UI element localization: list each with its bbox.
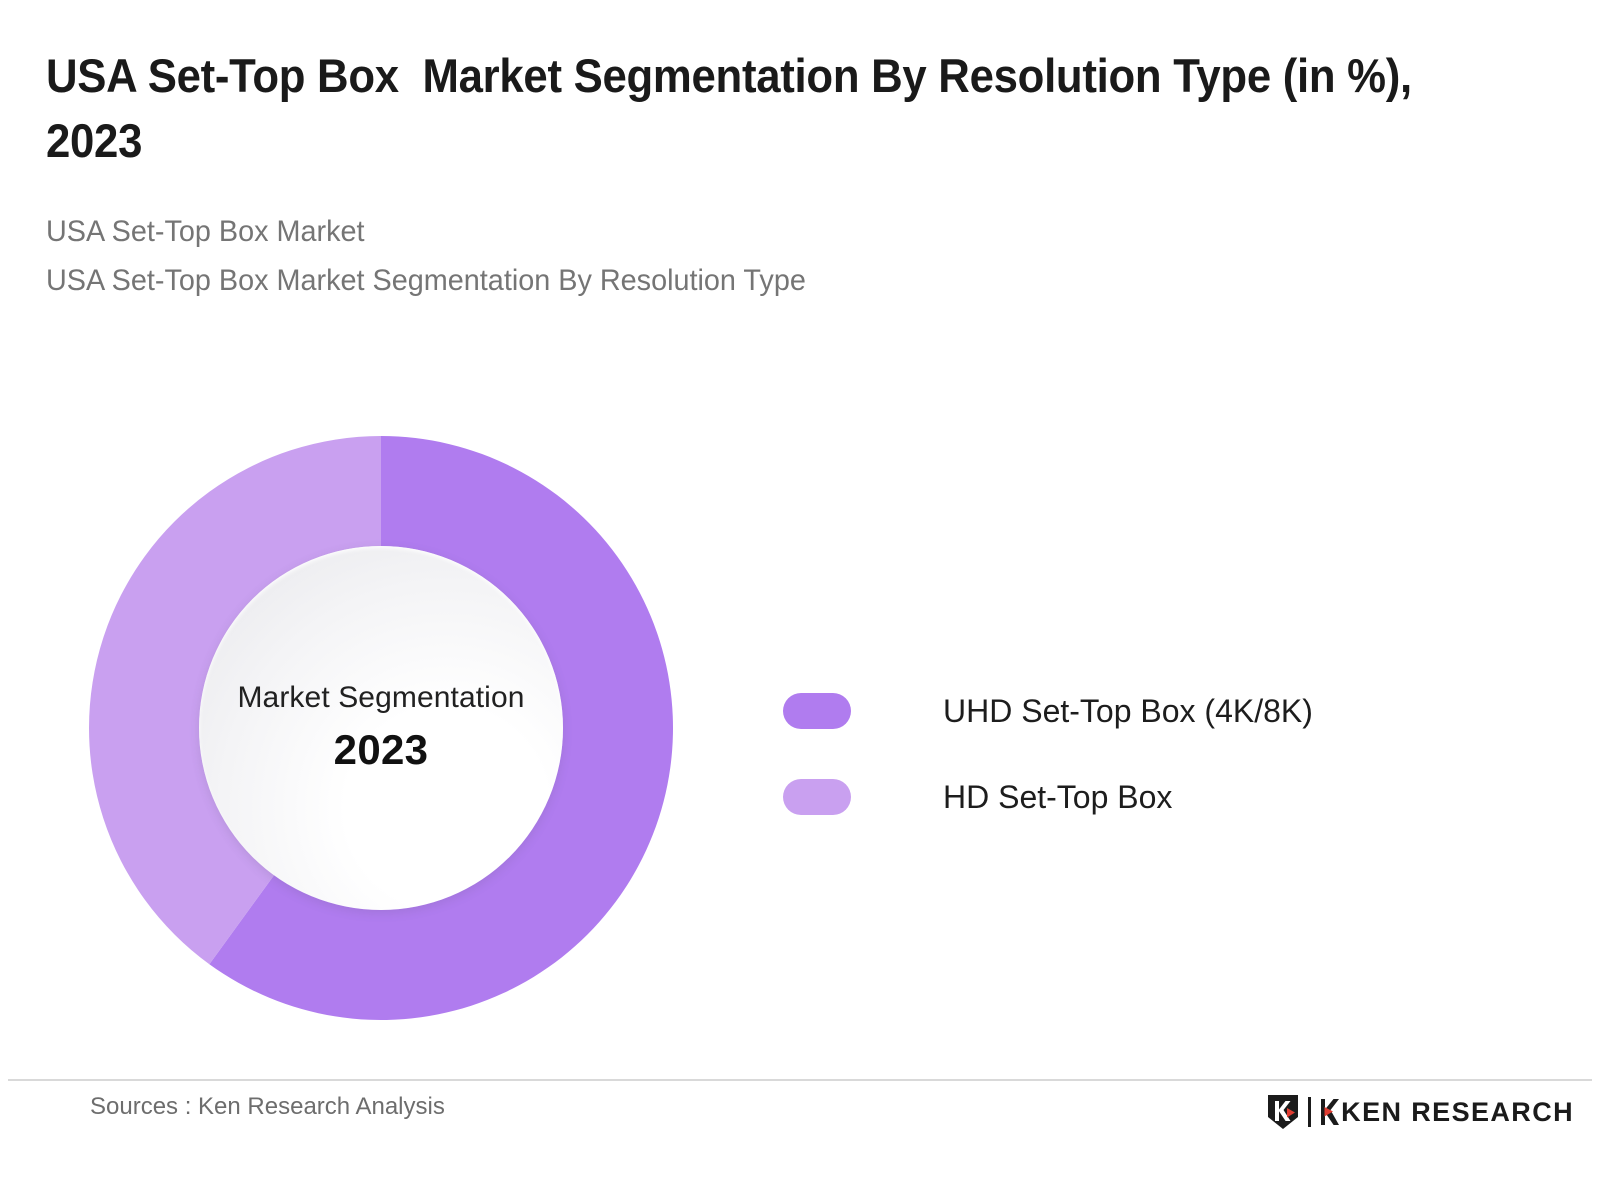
source-note: Sources : Ken Research Analysis [90, 1093, 445, 1121]
ken-research-logo[interactable]: KEN RESEARCH [1266, 1093, 1574, 1131]
page-title: USA Set-Top Box Market Segmentation By R… [46, 44, 1441, 174]
subtitle-block: USA Set-Top Box Market USA Set-Top Box M… [46, 208, 1546, 306]
ken-research-shield-k-icon [1266, 1093, 1300, 1131]
footer-divider [8, 1079, 1592, 1081]
logo-wordmark: KEN RESEARCH [1341, 1099, 1574, 1126]
legend-label-hd: HD Set-Top Box [943, 778, 1172, 816]
donut-center-disc: Market Segmentation 2023 [199, 546, 563, 910]
legend-label-uhd: UHD Set-Top Box (4K/8K) [943, 692, 1313, 730]
chart-page: USA Set-Top Box Market Segmentation By R… [0, 0, 1600, 1200]
chart-legend: UHD Set-Top Box (4K/8K) HD Set-Top Box [783, 668, 1423, 840]
donut-chart: Market Segmentation 2023 [89, 436, 673, 1020]
subtitle-line-market: USA Set-Top Box Market [46, 208, 1486, 257]
donut-center-year: 2023 [334, 724, 429, 777]
subtitle-line-segmentation: USA Set-Top Box Market Segmentation By R… [46, 257, 1486, 306]
legend-swatch-icon-uhd [783, 693, 851, 729]
legend-item-hd[interactable]: HD Set-Top Box [783, 754, 1423, 840]
logo-divider [1308, 1097, 1311, 1127]
donut-center-label: Market Segmentation [237, 680, 524, 716]
legend-item-uhd[interactable]: UHD Set-Top Box (4K/8K) [783, 668, 1423, 754]
logo-k-red-icon [1320, 1098, 1340, 1126]
chart-header: USA Set-Top Box Market Segmentation By R… [46, 44, 1546, 306]
legend-swatch-icon-hd [783, 779, 851, 815]
